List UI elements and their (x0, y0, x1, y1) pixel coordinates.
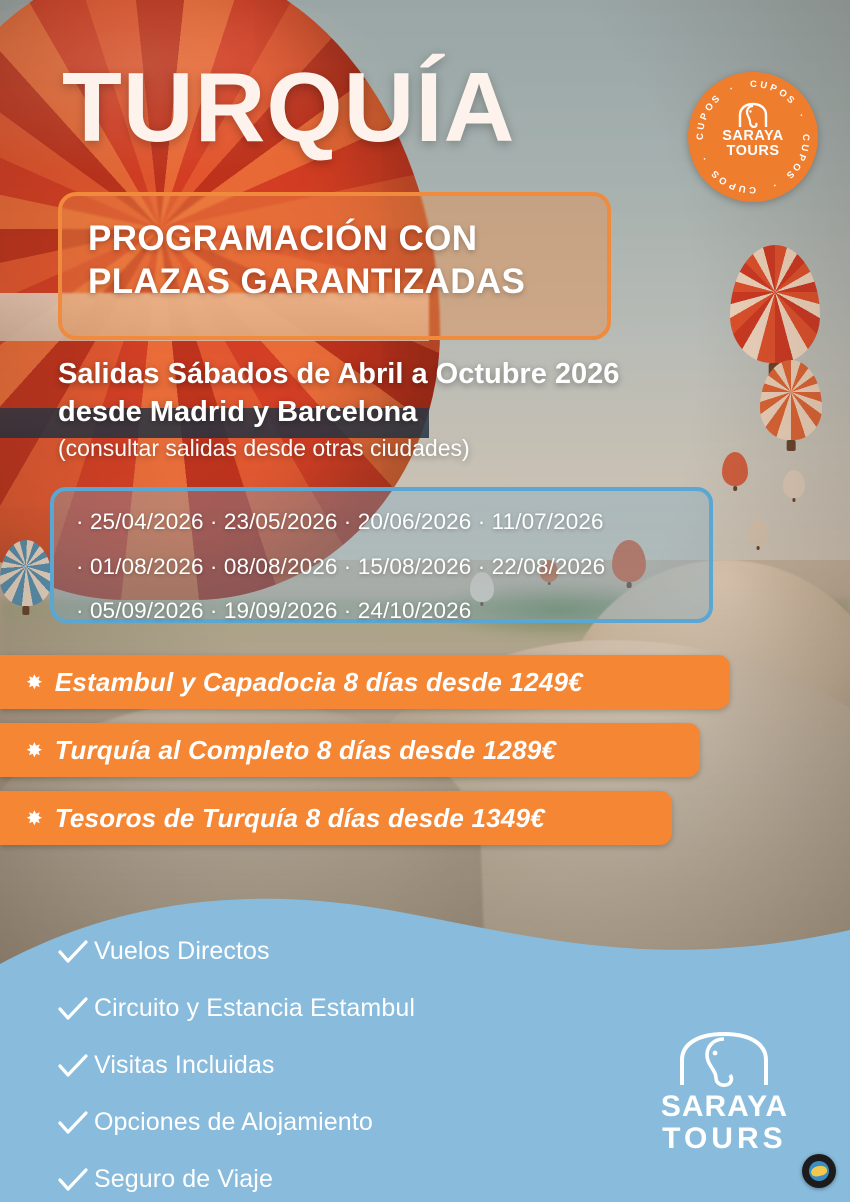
offer-label: Estambul y Capadocia 8 días desde 1249€ (55, 667, 583, 698)
elephant-icon (676, 1029, 772, 1087)
check-icon (58, 1110, 94, 1136)
feature-label: Circuito y Estancia Estambul (94, 994, 415, 1023)
features-list: Vuelos Directos Circuito y Estancia Esta… (58, 930, 618, 1202)
list-item: Seguro de Viaje (58, 1158, 618, 1201)
subtitle-note: (consultar salidas desde otras ciudades) (58, 434, 778, 464)
dates-row: · 25/04/2026 · 23/05/2026 · 20/06/2026 ·… (54, 491, 709, 534)
offer-bar-2[interactable]: ✸ Turquía al Completo 8 días desde 1289€ (0, 723, 700, 777)
dates-row: · 01/08/2026 · 08/08/2026 · 15/08/2026 ·… (54, 534, 709, 579)
asterisk-icon: ✸ (26, 806, 43, 831)
offer-label: Turquía al Completo 8 días desde 1289€ (55, 735, 556, 766)
feature-label: Opciones de Alojamiento (94, 1108, 373, 1137)
brand-logo-footer: SARAYA TOURS (661, 1029, 788, 1154)
list-item: Vuelos Directos (58, 930, 618, 973)
headline-line2: PLAZAS GARANTIZADAS (62, 259, 607, 302)
feature-label: Seguro de Viaje (94, 1165, 273, 1194)
list-item: Opciones de Alojamiento (58, 1101, 618, 1144)
asterisk-icon: ✸ (26, 738, 43, 763)
feature-label: Visitas Incluidas (94, 1051, 275, 1080)
elephant-icon (736, 102, 770, 128)
check-icon (58, 996, 94, 1022)
brand-line1: SARAYA (661, 1091, 788, 1123)
check-icon (58, 939, 94, 965)
list-item: Circuito y Estancia Estambul (58, 987, 618, 1030)
dates-row: · 05/09/2026 · 19/09/2026 · 24/10/2026 (54, 578, 709, 623)
offer-label: Tesoros de Turquía 8 días desde 1349€ (55, 803, 545, 834)
subtitle-block: Salidas Sábados de Abril a Octubre 2026 … (58, 355, 778, 463)
departure-dates-box: · 25/04/2026 · 23/05/2026 · 20/06/2026 ·… (50, 487, 713, 623)
cupos-stamp: CUPOS · CUPOS · CUPOS · CUPOS · SARAYA T… (688, 72, 818, 202)
subtitle-line2: desde Madrid y Barcelona (58, 393, 778, 431)
subtitle-line1: Salidas Sábados de Abril a Octubre 2026 (58, 355, 778, 393)
feature-label: Vuelos Directos (94, 937, 270, 966)
headline-box: PROGRAMACIÓN CON PLAZAS GARANTIZADAS (58, 192, 611, 340)
poster: TURQUÍA CUPOS · CUPOS · CUPOS · CUPOS · … (0, 0, 850, 1202)
headline-line1: PROGRAMACIÓN CON (62, 196, 607, 259)
asterisk-icon: ✸ (26, 670, 43, 695)
page-title: TURQUÍA (62, 58, 515, 156)
brand-line2: TOURS (661, 1123, 788, 1155)
stamp-logo: SARAYA TOURS (688, 102, 818, 159)
list-item: Visitas Incluidas (58, 1044, 618, 1087)
offer-bar-3[interactable]: ✸ Tesoros de Turquía 8 días desde 1349€ (0, 791, 672, 845)
offer-bar-1[interactable]: ✸ Estambul y Capadocia 8 días desde 1249… (0, 655, 730, 709)
check-icon (58, 1167, 94, 1193)
stamp-brand-line2: TOURS (688, 144, 818, 159)
logo-badge-icon[interactable] (802, 1154, 836, 1188)
badge-inner (809, 1161, 829, 1181)
check-icon (58, 1053, 94, 1079)
stamp-brand-line1: SARAYA (688, 129, 818, 144)
